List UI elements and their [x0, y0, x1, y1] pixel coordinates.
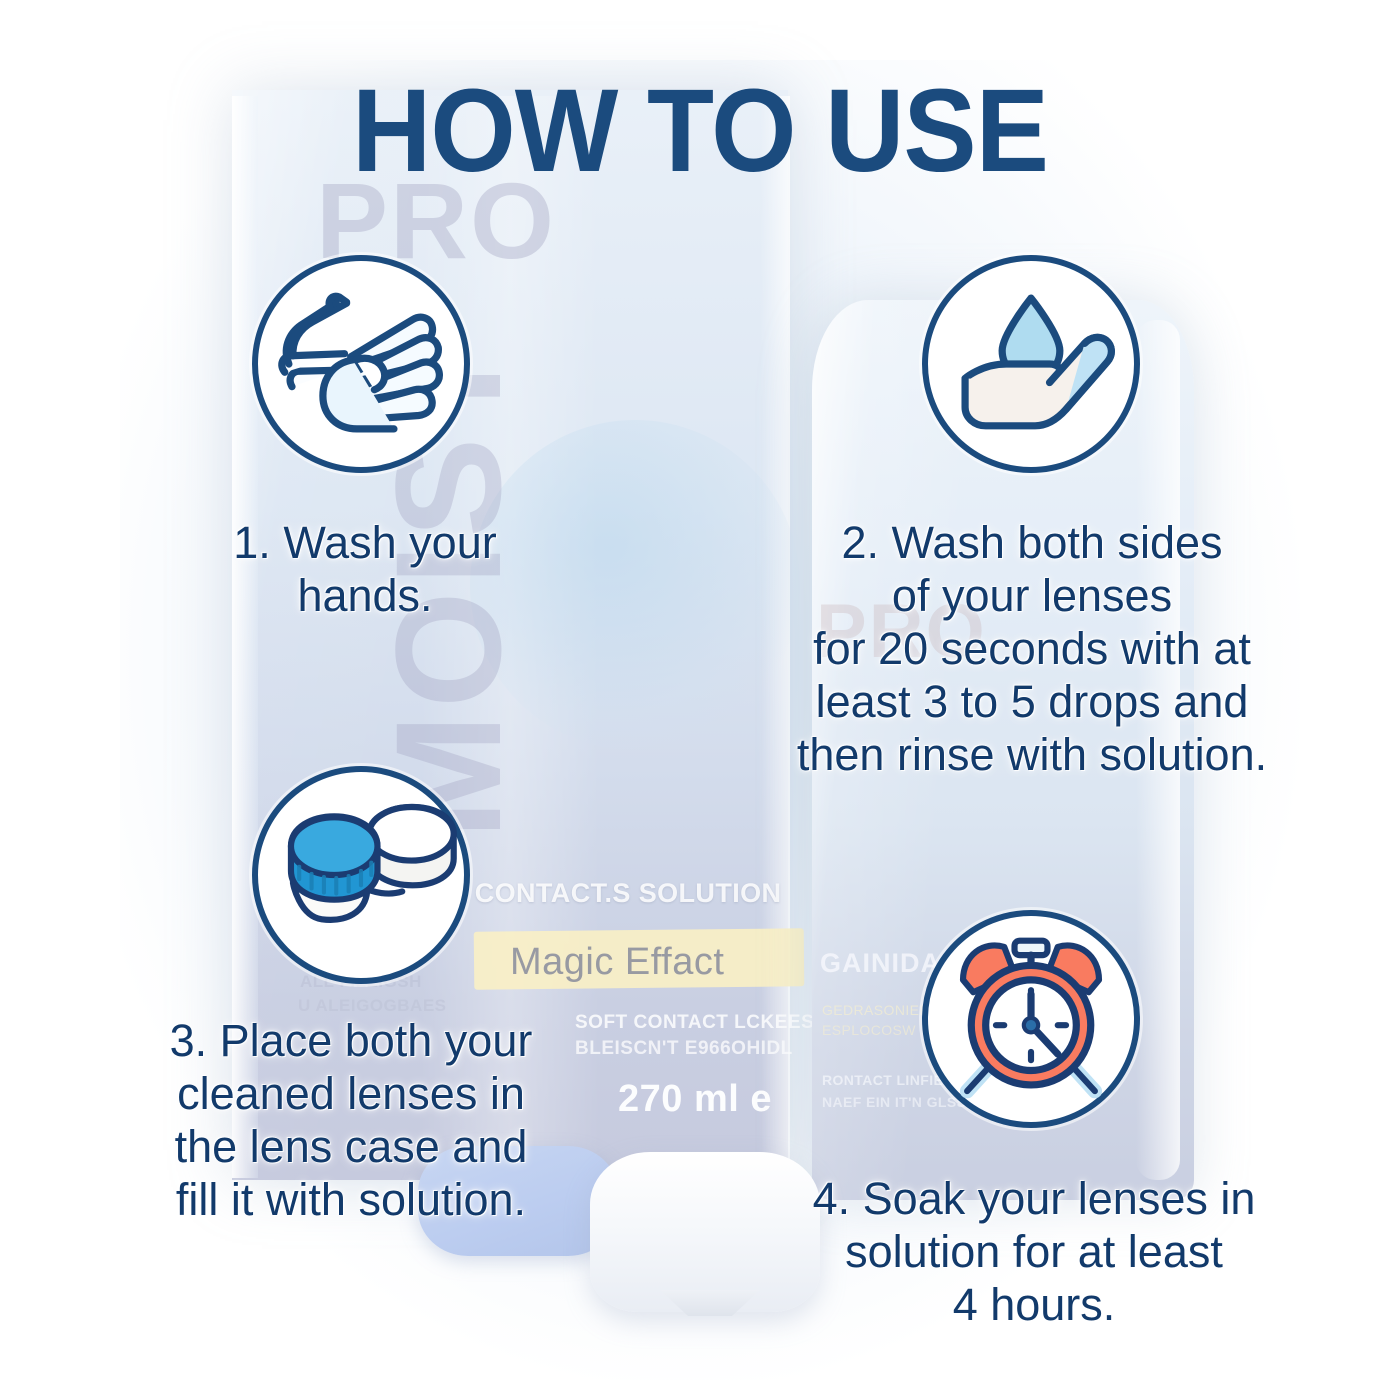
alarm-clock-icon — [922, 910, 1140, 1128]
bottle-small-text-2: ESPLOCOSW — [822, 1022, 916, 1038]
carton-volume-text: 270 ml e — [618, 1078, 772, 1121]
hand-with-droplet-icon — [922, 255, 1140, 473]
carton-badge-text: Magic Effact — [510, 941, 724, 984]
carton-fine-text-2: BLEISCN'T E966OHIDL — [575, 1038, 793, 1060]
carton-fine-text-1: SOFT CONTACT LCKEES — [575, 1012, 814, 1034]
carton-subtitle: SE CONTACT.S SOLUTION — [430, 878, 781, 909]
page-title: HOW TO USE — [49, 72, 1351, 190]
step-2-text: 2. Wash both sidesof your lensesfor 20 s… — [742, 516, 1322, 781]
step-1-text: 1. Wash yourhands. — [140, 516, 590, 622]
lens-case-icon — [252, 766, 470, 984]
washing-hands-icon — [252, 255, 470, 473]
carton-fine-text-4: U ALEIGOGBAES — [298, 996, 447, 1016]
step-4-text: 4. Soak your lenses insolution for at le… — [744, 1172, 1324, 1331]
step-3-text: 3. Place both yourcleaned lenses inthe l… — [96, 1014, 606, 1226]
infographic-page: PRO MOIST SE CONTACT.S SOLUTION Magic Ef… — [0, 0, 1400, 1400]
